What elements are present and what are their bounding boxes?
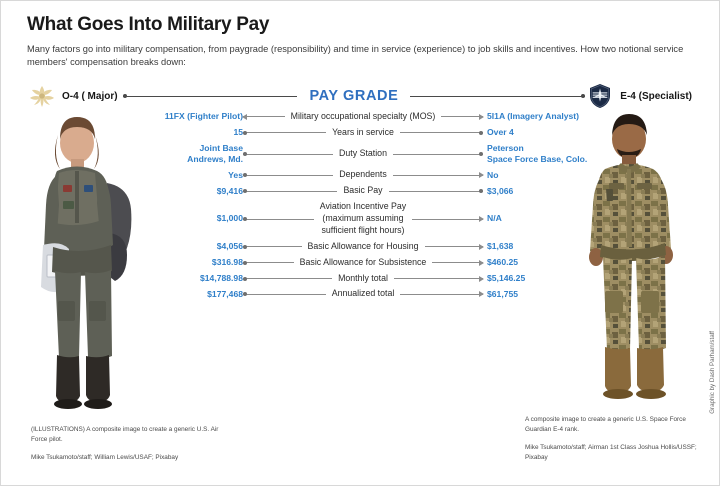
row-label: Military occupational specialty (MOS) xyxy=(285,111,442,123)
row-connector: Basic Allowance for Subsistence xyxy=(243,257,483,269)
connector-arm-right xyxy=(393,175,483,176)
connector-arm-right xyxy=(425,246,484,247)
pay-grade-title: PAY GRADE xyxy=(297,88,410,104)
connector-arm-right xyxy=(394,278,483,279)
row-left-value: $9,416 xyxy=(151,186,243,197)
row-label: Monthly total xyxy=(332,273,394,285)
table-row: $316.98 Basic Allowance for Subsistence … xyxy=(151,257,591,269)
connector-arm-left xyxy=(243,132,326,133)
row-left-value: $1,000 xyxy=(151,213,243,224)
row-right-value: $61,755 xyxy=(483,289,591,300)
comparison-table: 11FX (Fighter Pilot) Military occupation… xyxy=(151,111,591,304)
row-label: Dependents xyxy=(333,169,392,181)
row-connector: Monthly total xyxy=(243,273,483,285)
row-left-value: 15 xyxy=(151,127,243,138)
row-connector: Dependents xyxy=(243,169,483,181)
right-caption-credit: Mike Tsukamoto/staff; Airman 1st Class J… xyxy=(525,443,700,462)
connector-arm-left xyxy=(243,154,333,155)
pay-grade-line-left xyxy=(123,96,298,97)
connector-arm-right xyxy=(389,191,483,192)
row-left-value: Yes xyxy=(151,170,243,181)
row-left-value: 11FX (Fighter Pilot) xyxy=(151,111,243,122)
right-photo-caption: A composite image to create a generic U.… xyxy=(525,415,700,462)
row-right-value: 5I1A (Imagery Analyst) xyxy=(483,111,591,122)
row-right-value: Peterson Space Force Base, Colo. xyxy=(483,143,591,166)
table-row: $4,056 Basic Allowance for Housing $1,63… xyxy=(151,241,591,253)
table-row: $14,788.98 Monthly total $5,146.25 xyxy=(151,273,591,285)
left-caption-credit: Mike Tsukamoto/staff; William Lewis/USAF… xyxy=(31,453,231,463)
connector-arm-left xyxy=(243,175,333,176)
connector-arm-right xyxy=(441,116,483,117)
row-left-value: $14,788.98 xyxy=(151,273,243,284)
connector-arm-right xyxy=(432,262,483,263)
connector-arm-right xyxy=(400,294,483,295)
row-left-value: $316.98 xyxy=(151,257,243,268)
page-subtitle: Many factors go into military compensati… xyxy=(27,43,687,70)
right-caption-description: A composite image to create a generic U.… xyxy=(525,415,700,434)
row-label: Aviation Incentive Pay (maximum assuming… xyxy=(314,201,412,237)
table-row: $177,468 Annualized total $61,755 xyxy=(151,288,591,300)
page-title: What Goes Into Military Pay xyxy=(27,15,697,36)
pay-grade-line-right xyxy=(410,96,585,97)
row-label: Basic Pay xyxy=(337,185,388,197)
row-right-value: No xyxy=(483,170,591,181)
connector-arm-left xyxy=(243,246,302,247)
connector-arm-left xyxy=(243,262,294,263)
row-right-value: $5,146.25 xyxy=(483,273,591,284)
table-row: Yes Dependents No xyxy=(151,169,591,181)
row-left-value: Joint Base Andrews, Md. xyxy=(151,143,243,166)
row-right-value: $460.25 xyxy=(483,257,591,268)
row-connector: Years in service xyxy=(243,127,483,139)
table-row: 11FX (Fighter Pilot) Military occupation… xyxy=(151,111,591,123)
connector-arm-left xyxy=(243,116,285,117)
row-connector: Basic Pay xyxy=(243,185,483,197)
row-label: Basic Allowance for Subsistence xyxy=(294,257,433,269)
right-rank-label: E-4 (Specialist) xyxy=(615,91,697,102)
row-label: Years in service xyxy=(326,127,400,139)
row-connector: Basic Allowance for Housing xyxy=(243,241,483,253)
row-connector: Aviation Incentive Pay (maximum assuming… xyxy=(243,201,483,237)
connector-arm-right xyxy=(393,154,483,155)
table-row: $9,416 Basic Pay $3,066 xyxy=(151,185,591,197)
connector-arm-left xyxy=(243,191,337,192)
left-photo-caption: (ILLUSTRATIONS) A composite image to cre… xyxy=(31,425,231,463)
row-connector: Annualized total xyxy=(243,288,483,300)
infographic-page: What Goes Into Military Pay Many factors… xyxy=(0,0,720,486)
table-row: 15 Years in service Over 4 xyxy=(151,127,591,139)
row-connector: Military occupational specialty (MOS) xyxy=(243,111,483,123)
connector-arm-left xyxy=(243,219,314,220)
row-label: Duty Station xyxy=(333,148,393,160)
row-connector: Duty Station xyxy=(243,148,483,160)
row-left-value: $177,468 xyxy=(151,289,243,300)
connector-arm-right xyxy=(412,219,483,220)
air-force-pilot-photo xyxy=(27,105,159,417)
row-right-value: $3,066 xyxy=(483,186,591,197)
connector-arm-left xyxy=(243,294,326,295)
left-caption-description: (ILLUSTRATIONS) A composite image to cre… xyxy=(31,425,231,444)
connector-arm-left xyxy=(243,278,332,279)
row-right-value: N/A xyxy=(483,213,591,224)
row-label: Annualized total xyxy=(326,288,401,300)
table-row: Joint Base Andrews, Md. Duty Station Pet… xyxy=(151,143,591,166)
table-row: $1,000 Aviation Incentive Pay (maximum a… xyxy=(151,201,591,237)
left-rank-label: O-4 ( Major) xyxy=(57,91,123,102)
row-right-value: Over 4 xyxy=(483,127,591,138)
graphic-credit: Graphic by Dash Parham/staff xyxy=(709,331,716,414)
row-right-value: $1,638 xyxy=(483,241,591,252)
row-left-value: $4,056 xyxy=(151,241,243,252)
connector-arm-right xyxy=(400,132,483,133)
row-label: Basic Allowance for Housing xyxy=(302,241,425,253)
